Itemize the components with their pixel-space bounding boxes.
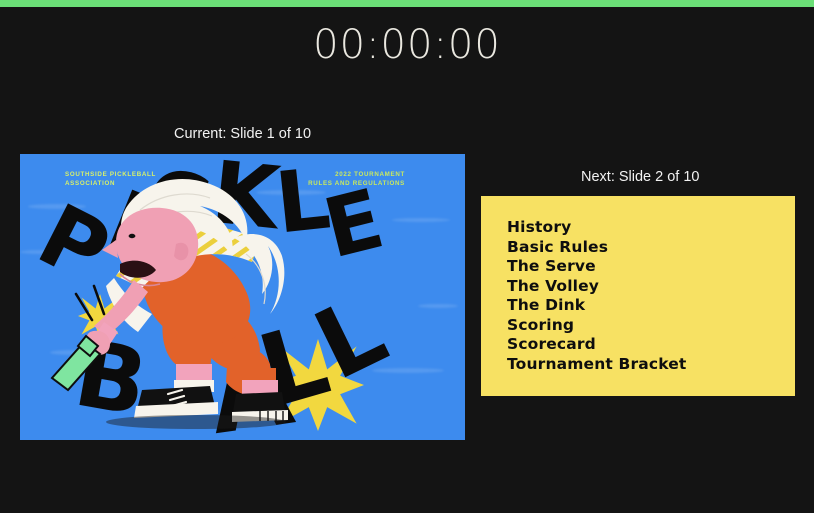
slide-kicker-organization: SOUTHSIDE PICKLEBALL ASSOCIATION [65, 170, 156, 188]
current-slide-label: Current: Slide 1 of 10 [174, 125, 311, 143]
pickleball-player-illustration [20, 154, 465, 440]
list-item: The Dink [507, 296, 795, 316]
slide-kicker-subtitle: 2022 TOURNAMENT RULES AND REGULATIONS [308, 170, 405, 188]
next-slide-preview[interactable]: History Basic Rules The Serve The Volley… [481, 196, 795, 396]
list-item: The Serve [507, 257, 795, 277]
presentation-timer[interactable]: 00:00:00 [0, 22, 814, 68]
list-item: History [507, 218, 795, 238]
presentation-progress-bar [0, 0, 814, 7]
list-item: The Volley [507, 277, 795, 297]
current-slide-preview[interactable]: SOUTHSIDE PICKLEBALL ASSOCIATION 2022 TO… [20, 154, 465, 440]
list-item: Scorecard [507, 335, 795, 355]
list-item: Scoring [507, 316, 795, 336]
list-item: Tournament Bracket [507, 355, 795, 375]
next-slide-agenda-list: History Basic Rules The Serve The Volley… [507, 218, 795, 374]
next-slide-label: Next: Slide 2 of 10 [581, 168, 700, 186]
list-item: Basic Rules [507, 238, 795, 258]
